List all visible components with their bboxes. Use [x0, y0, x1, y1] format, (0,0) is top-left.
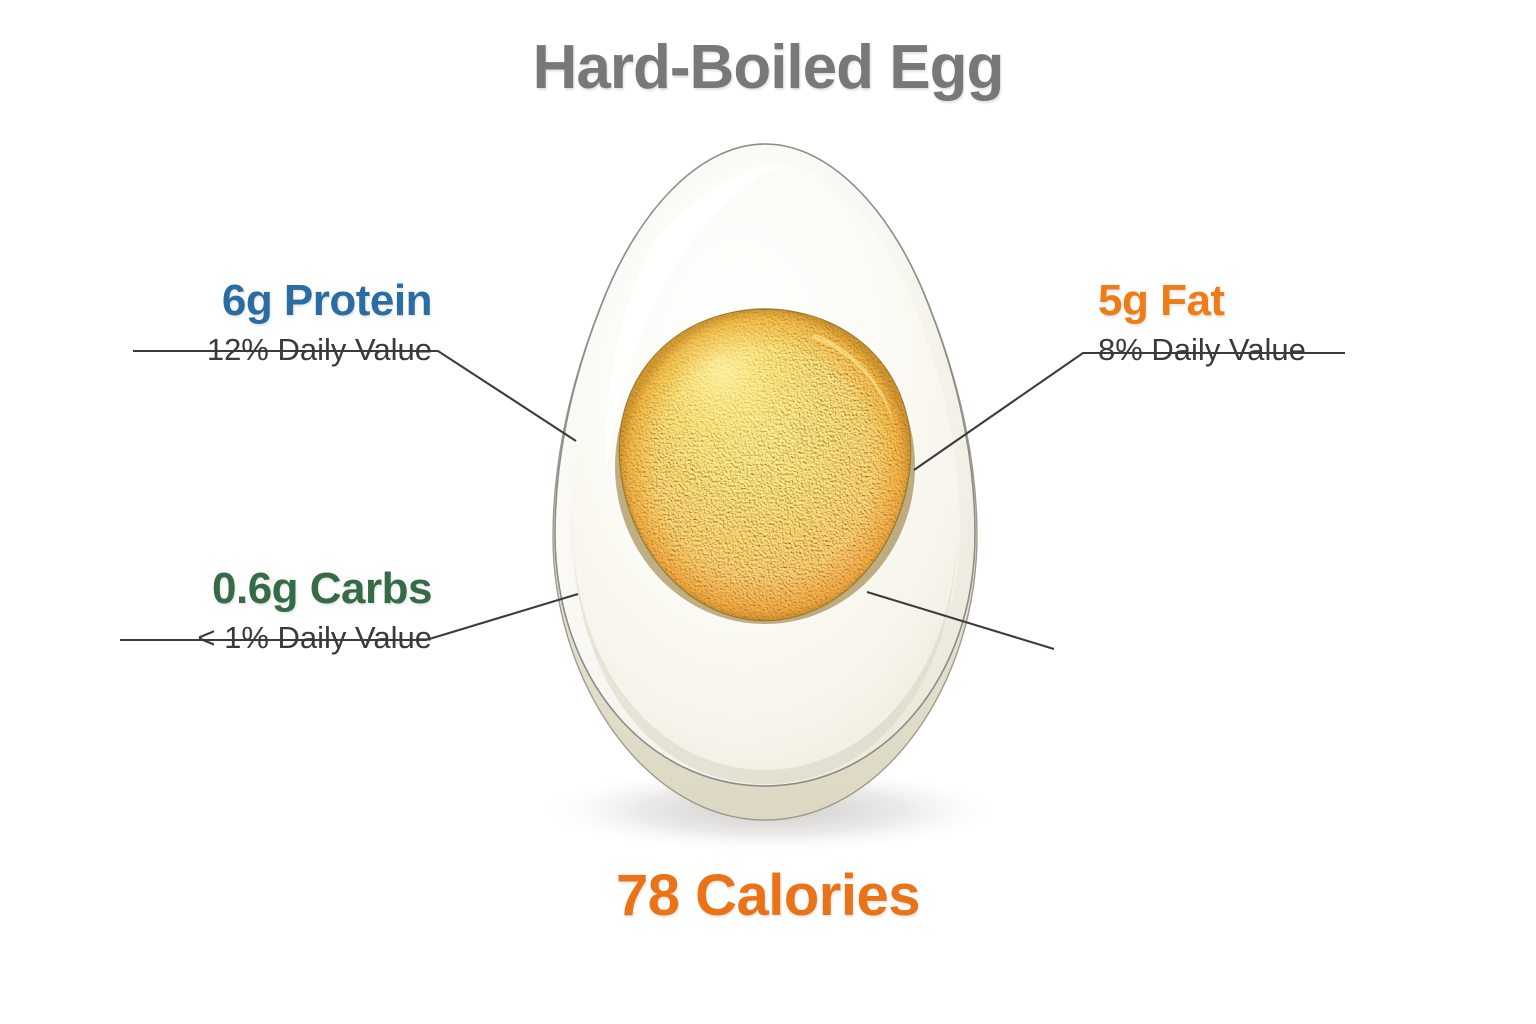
callout-protein-daily-value: 12% Daily Value	[60, 325, 432, 370]
callout-protein[interactable]: 6g Protein 12% Daily Value	[60, 278, 432, 369]
callout-carbs-value: 0.6g Carbs	[36, 566, 432, 613]
egg-cross-section-graphic	[455, 120, 1075, 860]
egg-illustration	[455, 120, 1075, 860]
calories-label: 78 Calories	[0, 862, 1536, 929]
callout-carbs-daily-value: < 1% Daily Value	[36, 613, 432, 658]
callout-fat[interactable]: 5g Fat 8% Daily Value	[1098, 278, 1398, 369]
callout-fat-daily-value: 8% Daily Value	[1098, 325, 1398, 370]
infographic-canvas: Hard-Boiled Egg	[0, 0, 1536, 1024]
callout-fat-value: 5g Fat	[1098, 278, 1398, 325]
callout-protein-value: 6g Protein	[60, 278, 432, 325]
callout-carbs[interactable]: 0.6g Carbs < 1% Daily Value	[36, 566, 432, 657]
page-title: Hard-Boiled Egg	[0, 32, 1536, 103]
